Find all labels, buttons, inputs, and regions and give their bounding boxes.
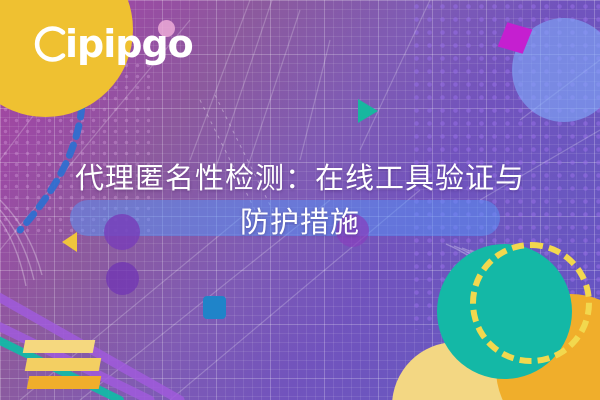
teal-play-triangle-icon: [358, 99, 378, 123]
stacked-bars-decor: [24, 340, 100, 394]
banner-image: ipipgo 代理匿名性检测：在线工具验证与 防护措施: [0, 0, 600, 400]
brand-logo[interactable]: ipipgo: [34, 24, 193, 64]
purple-circle-lower-icon: [106, 262, 139, 295]
page-title-line-2: 防护措施: [0, 200, 600, 244]
gold-circle-light-icon: [392, 342, 520, 400]
gold-circle-deep-icon: [496, 294, 600, 400]
blue-square-icon: [203, 296, 226, 319]
page-title-line-1: 代理匿名性检测：在线工具验证与: [0, 156, 600, 200]
brand-logo-text: ipipgo: [65, 25, 193, 63]
bar-mid: [25, 358, 102, 371]
bar-deep: [27, 376, 102, 389]
yellow-dashed-ring-icon: [470, 242, 592, 364]
teal-circle-icon: [437, 244, 572, 379]
bar-light: [23, 340, 96, 353]
blue-circle-icon: [512, 18, 600, 122]
page-title: 代理匿名性检测：在线工具验证与 防护措施: [0, 156, 600, 244]
magenta-diamond-icon: [498, 22, 533, 53]
